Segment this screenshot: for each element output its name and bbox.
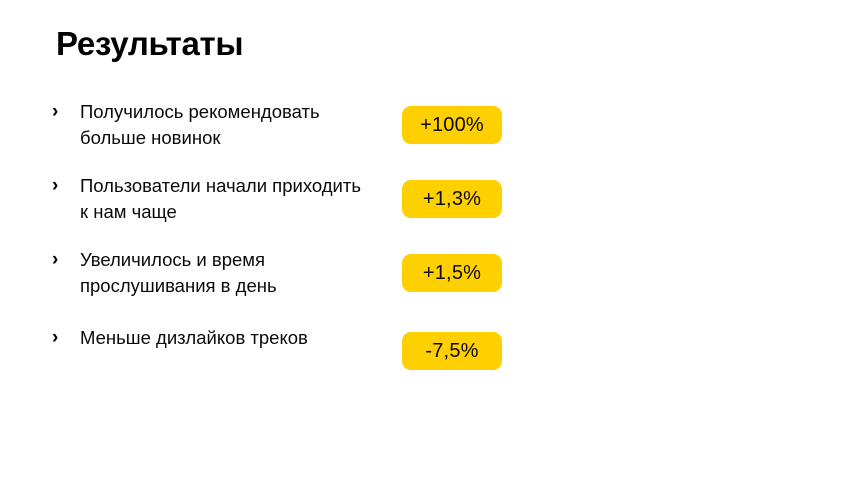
metric-badge-slot: -7,5% bbox=[400, 332, 504, 370]
list-item: › Меньше дизлайков треков -7,5% bbox=[52, 325, 532, 377]
list-item-text: Увеличилось и время прослушивания в день bbox=[68, 247, 400, 299]
status-badge: +100% bbox=[402, 106, 502, 144]
list-item-text-line2: больше новинок bbox=[80, 125, 400, 151]
list-item-text: Пользователи начали приходить к нам чаще bbox=[68, 173, 400, 225]
list-item-text-line1: Пользователи начали приходить bbox=[80, 173, 400, 199]
chevron-right-icon: › bbox=[52, 248, 68, 272]
list-item-text: Получилось рекомендовать больше новинок bbox=[68, 99, 400, 151]
list-item-text-line1: Получилось рекомендовать bbox=[80, 99, 400, 125]
list-item: › Увеличилось и время прослушивания в де… bbox=[52, 247, 532, 299]
chevron-right-icon: › bbox=[52, 326, 68, 350]
results-list: › Получилось рекомендовать больше новино… bbox=[52, 99, 532, 377]
status-badge: +1,5% bbox=[402, 254, 502, 292]
list-item: › Получилось рекомендовать больше новино… bbox=[52, 99, 532, 151]
status-badge: -7,5% bbox=[402, 332, 502, 370]
list-item-text-line1: Меньше дизлайков треков bbox=[80, 325, 400, 351]
metric-badge-slot: +1,5% bbox=[400, 254, 504, 292]
metric-badge-slot: +100% bbox=[400, 106, 504, 144]
list-item-text: Меньше дизлайков треков bbox=[68, 325, 400, 351]
list-item-text-line2: к нам чаще bbox=[80, 199, 400, 225]
page-title: Результаты bbox=[56, 24, 243, 64]
list-item: › Пользователи начали приходить к нам ча… bbox=[52, 173, 532, 225]
status-badge: +1,3% bbox=[402, 180, 502, 218]
list-item-text-line1: Увеличилось и время bbox=[80, 247, 400, 273]
list-item-text-line2: прослушивания в день bbox=[80, 273, 400, 299]
results-slide: Результаты › Получилось рекомендовать бо… bbox=[0, 0, 850, 478]
chevron-right-icon: › bbox=[52, 100, 68, 124]
chevron-right-icon: › bbox=[52, 174, 68, 198]
metric-badge-slot: +1,3% bbox=[400, 180, 504, 218]
